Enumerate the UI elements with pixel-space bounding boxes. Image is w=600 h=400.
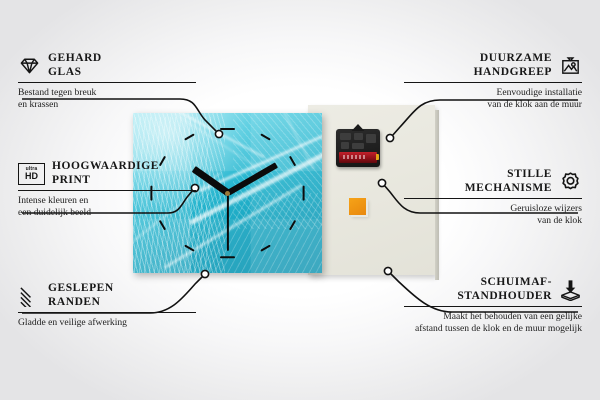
- feature-description: Gladde en veilige afwerking: [18, 317, 196, 329]
- divider: [404, 306, 582, 307]
- ultra-hd-icon: ultra HD: [18, 163, 45, 185]
- picture-frame-icon: [559, 54, 582, 77]
- feature-head: GEHARDGLAS: [18, 52, 196, 79]
- clock-mechanism-box: [336, 129, 380, 167]
- feature-description: Maakt het behouden van een gelijkeafstan…: [404, 311, 582, 334]
- feature-geslepen-randen[interactable]: GESLEPENRANDEN Gladde en veilige afwerki…: [18, 282, 196, 329]
- feature-gehard-glas[interactable]: GEHARDGLAS Bestand tegen breuken krassen: [18, 52, 196, 111]
- feature-stille-mechanisme[interactable]: STILLEMECHANISME Geruisloze wijzersvan d…: [404, 168, 582, 227]
- battery: [339, 152, 377, 163]
- diamond-icon: [18, 54, 41, 77]
- feature-description: Geruisloze wijzersvan de klok: [404, 203, 582, 226]
- clock-tick: [220, 128, 235, 130]
- feature-title: SCHUIMAF-STANDHOUDER: [457, 276, 552, 303]
- feature-hoogwaardige-print[interactable]: ultra HD HOOGWAARDIGEPRINT Intense kleur…: [18, 160, 196, 219]
- mechanism-detail: [340, 133, 376, 150]
- second-hand: [227, 193, 229, 251]
- foam-spacer-icon: [559, 278, 582, 301]
- divider: [18, 190, 196, 191]
- divider: [404, 198, 582, 199]
- feature-title: GESLEPENRANDEN: [48, 282, 114, 309]
- feature-schuimaf-standhouder[interactable]: SCHUIMAF-STANDHOUDER Maakt het behouden …: [404, 276, 582, 335]
- feature-title: HOOGWAARDIGEPRINT: [52, 160, 159, 187]
- feature-head: GESLEPENRANDEN: [18, 282, 196, 309]
- divider: [18, 82, 196, 83]
- feature-head: STILLEMECHANISME: [404, 168, 582, 195]
- battery-label: [343, 155, 367, 159]
- clock-tick: [220, 256, 235, 258]
- feature-title: DUURZAMEHANDGREEP: [474, 52, 552, 79]
- feature-head: ultra HD HOOGWAARDIGEPRINT: [18, 160, 196, 187]
- gear-icon: [559, 170, 582, 193]
- beveled-edges-icon: [18, 284, 41, 307]
- feature-head: DUURZAMEHANDGREEP: [404, 52, 582, 79]
- feature-description: Eenvoudige installatievan de klok aan de…: [404, 87, 582, 110]
- mechanism-hanger-tab: [352, 124, 365, 131]
- clock-tick: [302, 185, 304, 200]
- feature-duurzame-handgreep[interactable]: DUURZAMEHANDGREEP Eenvoudige installatie…: [404, 52, 582, 111]
- foam-spacer-pad: [349, 198, 366, 215]
- feature-description: Intense kleuren eneen duidelijk beeld: [18, 195, 196, 218]
- divider: [18, 312, 196, 313]
- feature-title: STILLEMECHANISME: [465, 168, 552, 195]
- infographic-canvas: GEHARDGLAS Bestand tegen breuken krassen…: [0, 0, 600, 400]
- clock-center-hub: [225, 191, 230, 196]
- feature-title: GEHARDGLAS: [48, 52, 102, 79]
- feature-description: Bestand tegen breuken krassen: [18, 87, 196, 110]
- feature-head: SCHUIMAF-STANDHOUDER: [404, 276, 582, 303]
- divider: [404, 82, 582, 83]
